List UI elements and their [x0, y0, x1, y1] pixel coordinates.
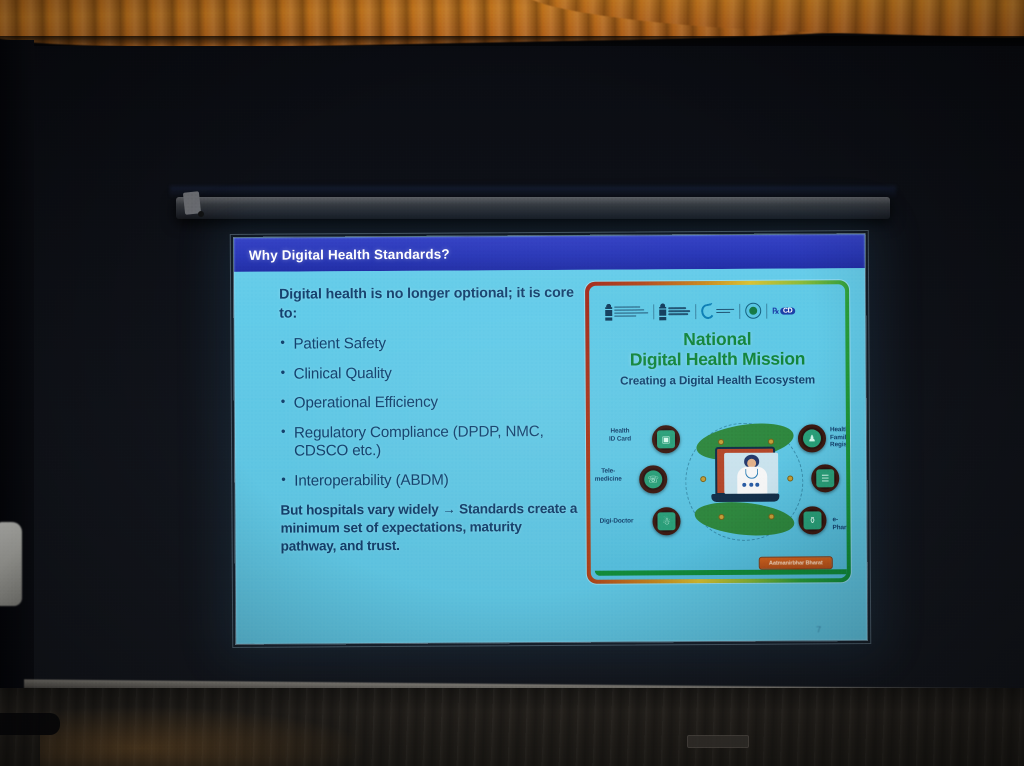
list-item: Operational Efficiency: [280, 393, 580, 414]
headline-subtitle: Creating a Digital Health Ecosystem: [590, 373, 846, 388]
screen-housing-knob: [198, 211, 204, 217]
logo-caption-lines: [668, 307, 690, 315]
ayushman-bharat-wheel-logo: [745, 301, 761, 321]
logo-caption-lines: [716, 309, 734, 314]
left-dark-column: [0, 40, 34, 740]
auditorium-scene: Why Digital Health Standards? Digital he…: [0, 0, 1024, 766]
closing-paragraph: But hospitals vary widely → Standards cr…: [280, 500, 580, 556]
projected-slide: Why Digital Health Standards? Digital he…: [234, 234, 867, 644]
valance-shadow: [0, 36, 1024, 46]
laptop-base: [711, 494, 779, 502]
connector-dot: [700, 476, 706, 482]
npcdcs-pill-icon: CD: [780, 307, 795, 314]
node-digi-doctor: ☃: [652, 507, 680, 535]
projector-screen-housing: [176, 197, 890, 219]
wheel-icon: [745, 303, 761, 319]
status-badge: Aatmanirbhar Bharat: [759, 556, 833, 569]
npcdcs-logo: ℞ CD: [772, 301, 795, 321]
government-of-india-emblem-logo: [659, 301, 690, 321]
national-emblem-icon: [659, 303, 666, 320]
node-label-health-family-registry: Health FamilyRegistry: [786, 426, 847, 449]
digital-india-logo: [701, 301, 734, 321]
logo-caption-lines: [614, 306, 648, 317]
logo-divider: [653, 304, 654, 319]
connector-dot: [718, 514, 724, 520]
list-item: Clinical Quality: [280, 364, 580, 385]
floor-cable: [0, 713, 60, 735]
digi-doctor-icon: ☃: [657, 512, 675, 530]
lead-paragraph: Digital health is no longer optional; it…: [279, 284, 579, 323]
laptop-lid: [715, 447, 775, 495]
node-label-personal-health-records: PersonalHealthRecords: [802, 462, 847, 485]
ecosystem-diagram: ▣ HealthID Card ☏ Tele-medicine ☃ Digi-D…: [590, 406, 847, 580]
floor-light-pool: [40, 706, 370, 766]
logo-divider: [695, 304, 696, 319]
npcdcs-mark-icon: ℞: [772, 306, 779, 315]
node-label-health-id-card: HealthID Card: [594, 427, 646, 442]
node-telemedicine: ☏: [639, 465, 667, 493]
connector-dot: [768, 514, 774, 520]
connector-dot: [787, 476, 793, 482]
list-item: Patient Safety: [279, 334, 579, 355]
bullet-list: Patient Safety Clinical Quality Operatio…: [279, 334, 580, 491]
list-item: Regulatory Compliance (DPDP, NMC, CDSCO …: [280, 422, 580, 462]
node-health-id-card: ▣: [652, 425, 680, 453]
stage-floor: [0, 688, 1024, 766]
screen-dots-icon: [742, 483, 764, 488]
ministry-logo-strip: ℞ CD: [605, 300, 837, 321]
slide-page-number: 7: [816, 624, 821, 634]
floor-vent: [687, 735, 749, 748]
badge-label: Aatmanirbhar Bharat: [769, 560, 823, 566]
node-label-digi-doctor: Digi-Doctor: [590, 517, 642, 525]
node-label-telemedicine: Tele-medicine: [589, 467, 634, 482]
edge-object: [0, 522, 22, 606]
connector-dot: [718, 439, 724, 445]
headline-line-2: Digital Health Mission: [589, 348, 845, 370]
node-label-e-pharmacy: e-Pharmacy: [788, 516, 846, 531]
laptop-screen: [724, 453, 778, 494]
list-item: Interoperability (ABDM): [280, 471, 580, 492]
id-card-icon: ▣: [657, 430, 675, 448]
slide-body: Digital health is no longer optional; it…: [234, 268, 867, 644]
ministry-of-health-emblem-logo: [605, 301, 648, 321]
logo-divider: [766, 303, 767, 318]
doctor-on-laptop-illustration: [711, 447, 779, 509]
slide-text-column: Digital health is no longer optional; it…: [279, 284, 581, 556]
headline-line-1: National: [589, 328, 845, 350]
telemedicine-icon: ☏: [644, 470, 662, 488]
stage-valance-curtain: [0, 0, 1024, 46]
connector-dot: [768, 439, 774, 445]
page-title: Why Digital Health Standards?: [249, 246, 450, 262]
slide-title-bar: Why Digital Health Standards?: [234, 234, 865, 272]
logo-divider: [739, 303, 740, 318]
digital-india-d-icon: [700, 302, 716, 319]
national-emblem-icon: [605, 303, 612, 320]
ndhm-headline: National Digital Health Mission Creating…: [589, 328, 845, 387]
ndhm-graphic-panel: ℞ CD National Digital Health Mission Cre…: [585, 280, 851, 584]
